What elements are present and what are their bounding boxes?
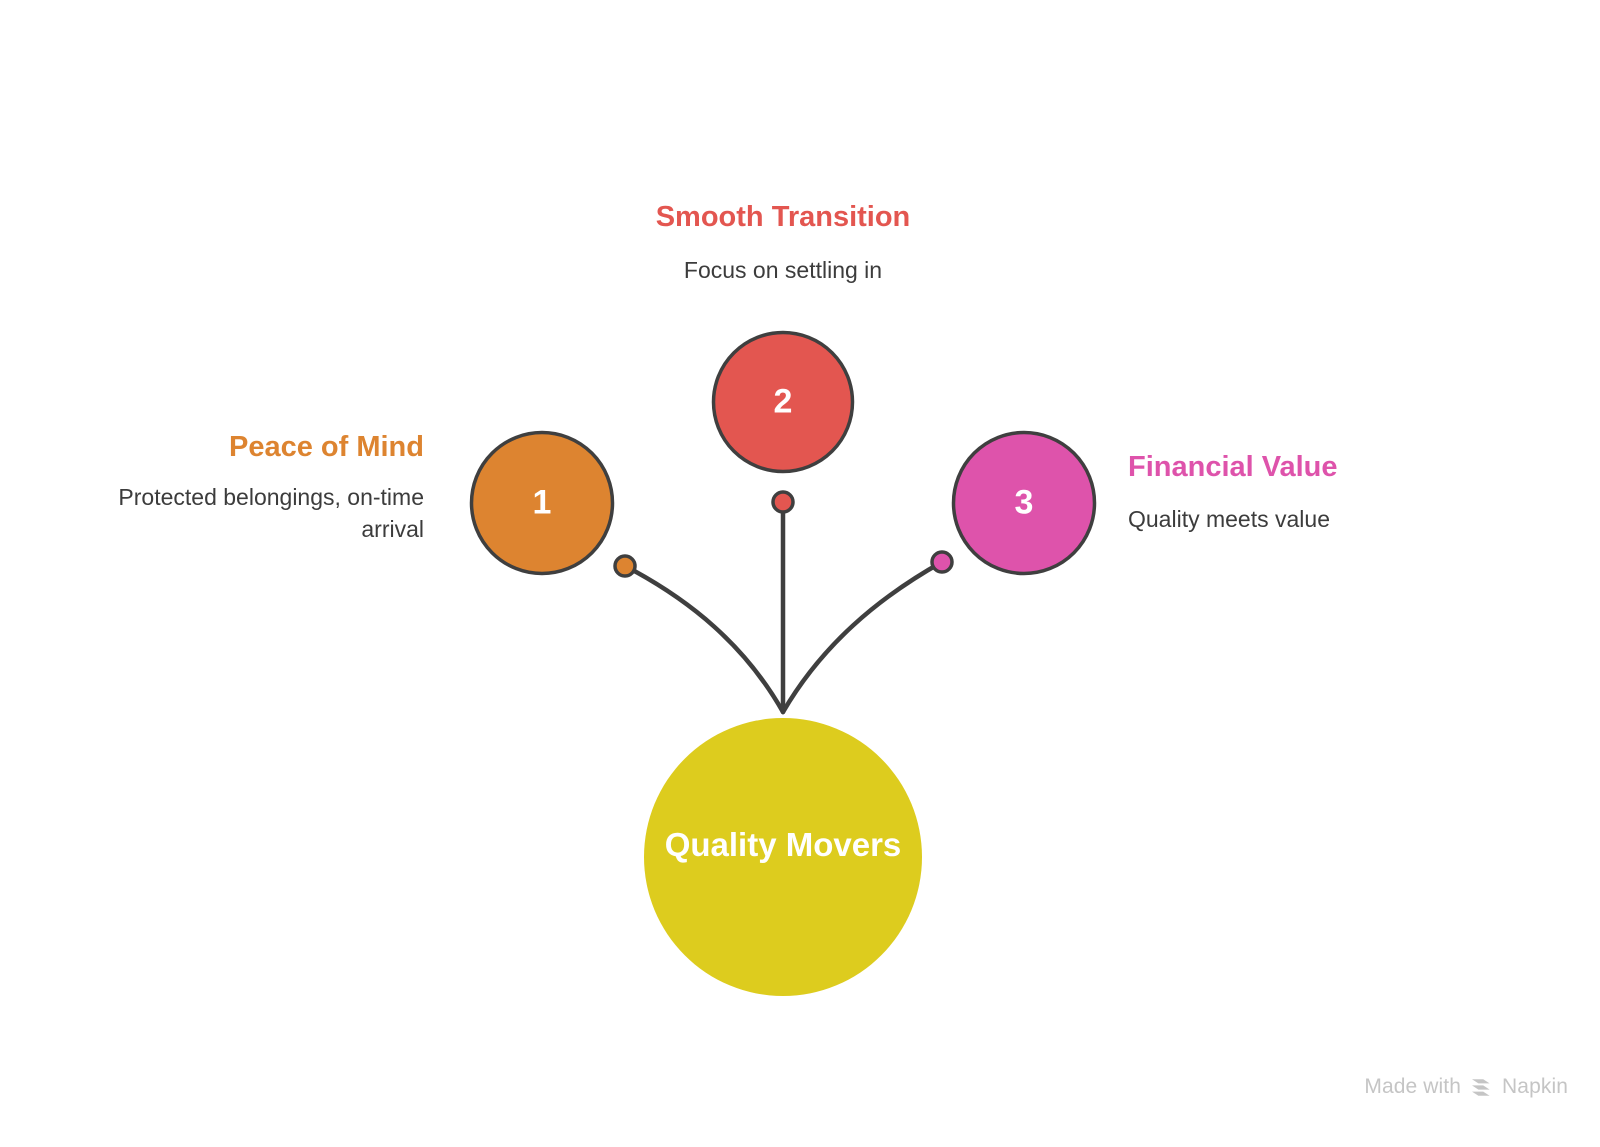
watermark-made-with-label: Made with (1364, 1075, 1461, 1099)
connector-dot-3 (932, 552, 952, 572)
branch-description-1: Protected belongings, on-time arrival (96, 482, 424, 545)
connector-dot-2 (773, 492, 793, 512)
branch-description-2: Focus on settling in (603, 255, 963, 287)
connector-dot-1 (615, 556, 635, 576)
diagram-graphics (0, 0, 1600, 1147)
connector-branch-3 (783, 562, 942, 712)
napkin-watermark[interactable]: Made with Napkin (1364, 1075, 1568, 1099)
center-node-label: Quality Movers (665, 826, 902, 864)
branch-label-2: Smooth Transition Focus on settling in (603, 200, 963, 287)
branch-title-2: Smooth Transition (603, 200, 963, 234)
connector-lines (625, 512, 942, 712)
branch-title-1: Peace of Mind (96, 430, 424, 464)
watermark-brand-label: Napkin (1502, 1075, 1568, 1099)
diagram-canvas: 1 2 3 Quality Movers Peace of Mind Prote… (0, 0, 1600, 1147)
branch-title-3: Financial Value (1128, 450, 1508, 484)
branch-label-1: Peace of Mind Protected belongings, on-t… (96, 430, 424, 546)
connector-branch-1 (625, 566, 783, 712)
branch-label-3: Financial Value Quality meets value (1128, 450, 1508, 536)
branch-node-circle-3[interactable] (954, 433, 1095, 574)
branch-description-3: Quality meets value (1128, 504, 1508, 536)
branch-node-circle-2[interactable] (714, 333, 853, 472)
napkin-logo-icon (1470, 1077, 1493, 1098)
branch-node-circle-1[interactable] (472, 433, 613, 574)
